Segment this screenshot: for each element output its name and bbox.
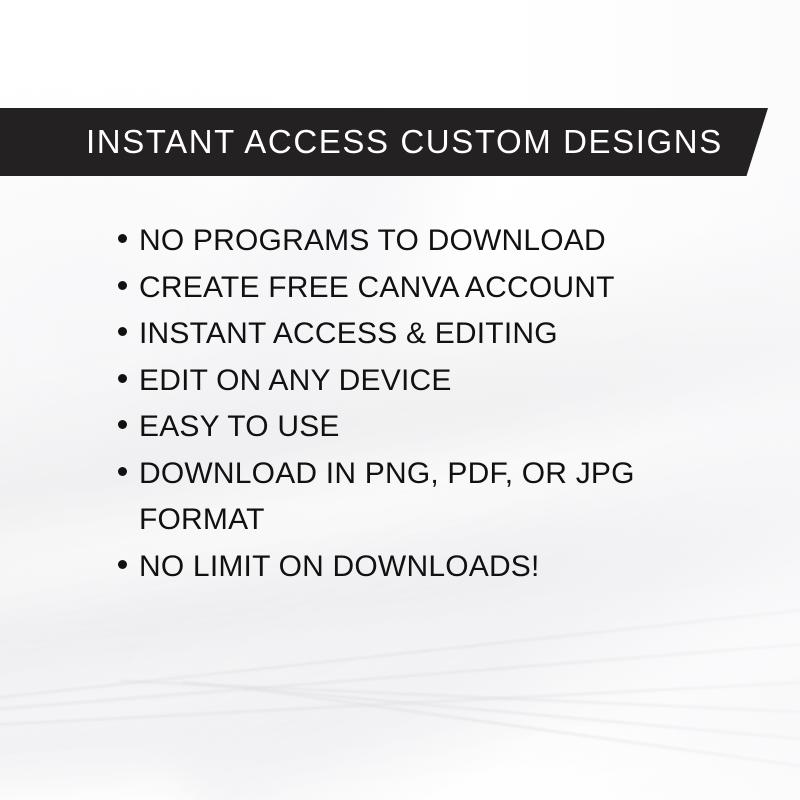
list-item: EASY TO USE [118,404,718,451]
bullet-dot-icon [118,234,127,243]
list-item-label: NO PROGRAMS TO DOWNLOAD [139,218,606,265]
list-item: EDIT ON ANY DEVICE [118,358,718,405]
list-item: INSTANT ACCESS & EDITING [118,311,718,358]
page-title: INSTANT ACCESS CUSTOM DESIGNS [86,125,723,160]
list-item-label: NO LIMIT ON DOWNLOADS! [139,544,540,591]
feature-list: NO PROGRAMS TO DOWNLOAD CREATE FREE CANV… [118,218,718,590]
list-item-label: EASY TO USE [139,404,340,451]
bullet-dot-icon [118,420,127,429]
promo-graphic: INSTANT ACCESS CUSTOM DESIGNS NO PROGRAM… [0,0,800,800]
header-banner: INSTANT ACCESS CUSTOM DESIGNS [0,108,768,176]
list-item: NO PROGRAMS TO DOWNLOAD [118,218,718,265]
bullet-dot-icon [118,281,127,290]
bullet-dot-icon [118,560,127,569]
bullet-dot-icon [118,467,127,476]
list-item-label: EDIT ON ANY DEVICE [139,358,452,405]
list-item: CREATE FREE CANVA ACCOUNT [118,265,718,312]
bullet-dot-icon [118,374,127,383]
list-item-label: CREATE FREE CANVA ACCOUNT [139,265,615,312]
bullet-dot-icon [118,327,127,336]
list-item: NO LIMIT ON DOWNLOADS! [118,544,718,591]
list-item: DOWNLOAD IN PNG, PDF, OR JPG FORMAT [118,451,718,544]
list-item-label: INSTANT ACCESS & EDITING [139,311,558,358]
list-item-label: DOWNLOAD IN PNG, PDF, OR JPG FORMAT [139,451,635,544]
